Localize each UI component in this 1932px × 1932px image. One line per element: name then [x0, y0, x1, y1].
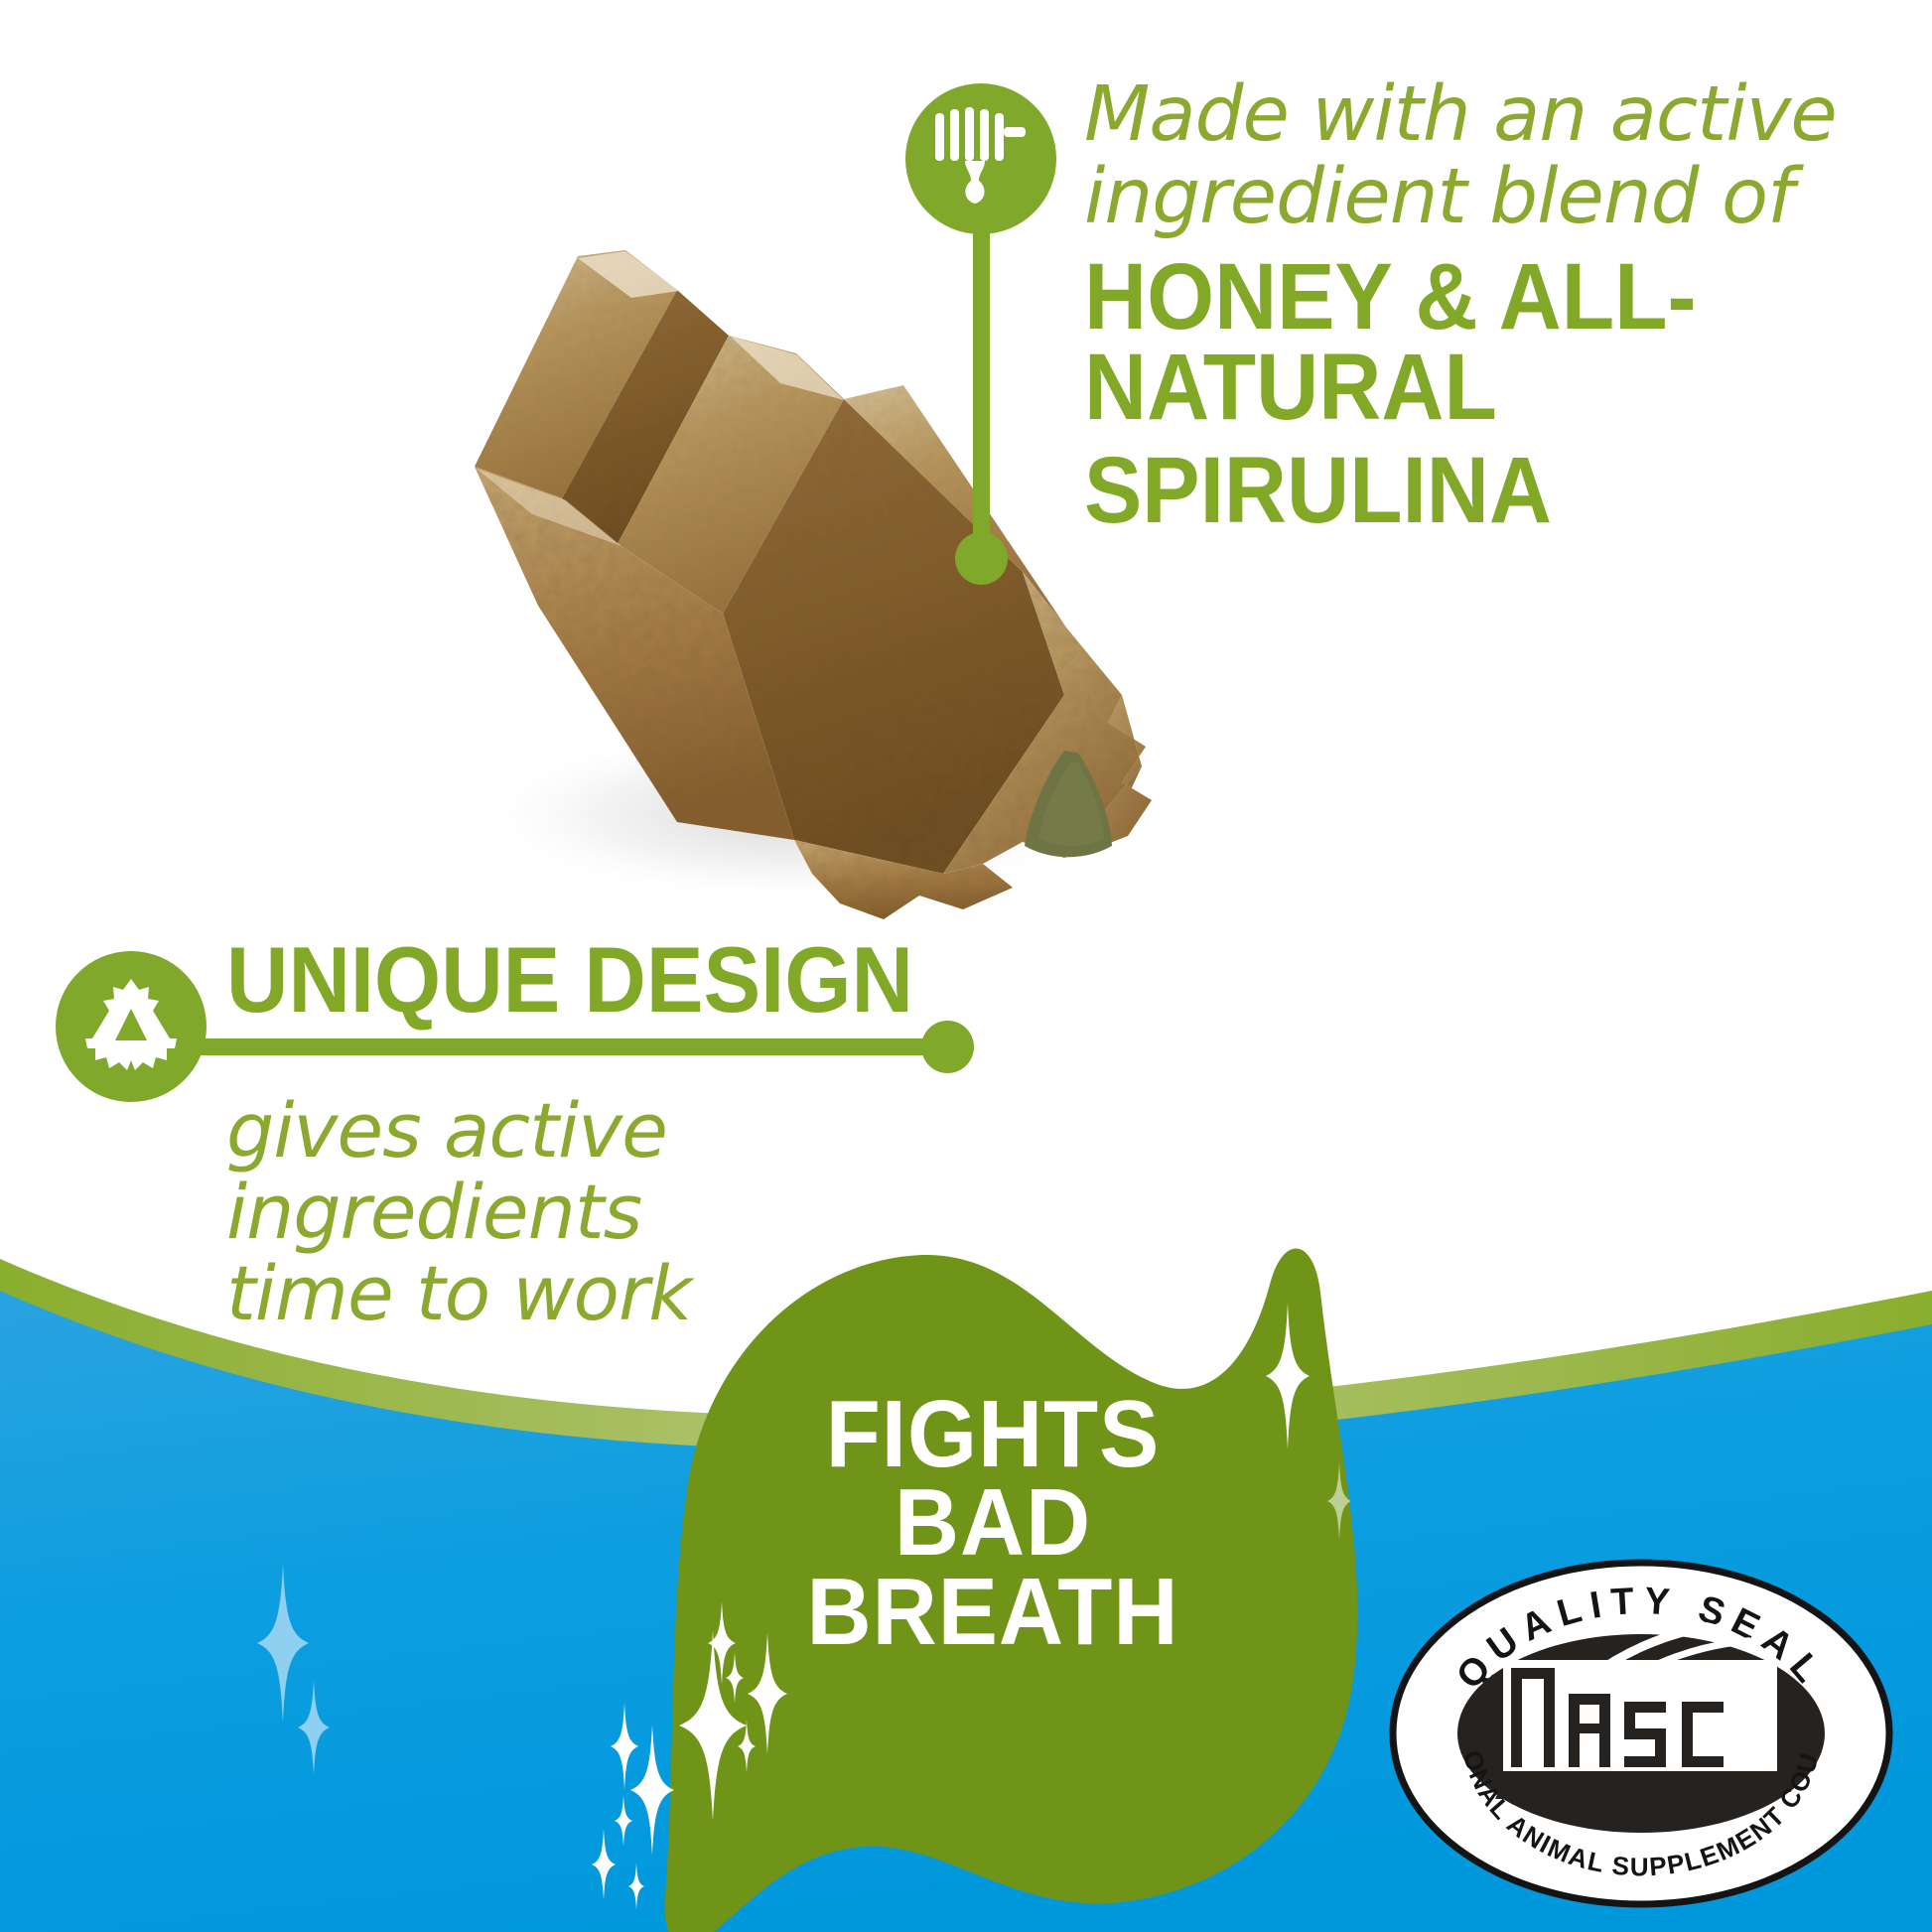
honey-script-line-1: Made with an active — [1084, 73, 1908, 156]
honey-dipper-icon — [905, 83, 1056, 234]
honey-bold-line-1: HONEY & ALL-NATURAL — [1084, 252, 1843, 432]
callout-honey-spirulina: Made with an active ingredient blend of … — [905, 83, 1908, 540]
callout-connector-line — [973, 230, 990, 560]
fights-bad-breath-blob — [596, 1241, 1390, 1932]
honey-script-line-2: ingredient blend of — [1084, 156, 1908, 238]
callout-connector-dot — [955, 532, 1008, 585]
unique-design-sub-line-1: gives active ingredients — [226, 1090, 981, 1253]
callout-connector-dot — [921, 1021, 974, 1073]
unique-design-heading: UNIQUE DESIGN — [226, 933, 913, 1027]
treat-cross-section-icon — [56, 951, 207, 1102]
honey-bold-line-2: SPIRULINA — [1084, 446, 1843, 535]
honey-callout-text: Made with an active ingredient blend of … — [1084, 73, 1908, 535]
infographic-canvas: Made with an active ingredient blend of … — [0, 0, 1932, 1932]
callout-connector-line — [195, 1038, 949, 1055]
nasc-quality-seal: QUALITY SEAL — [1388, 1557, 1894, 1909]
